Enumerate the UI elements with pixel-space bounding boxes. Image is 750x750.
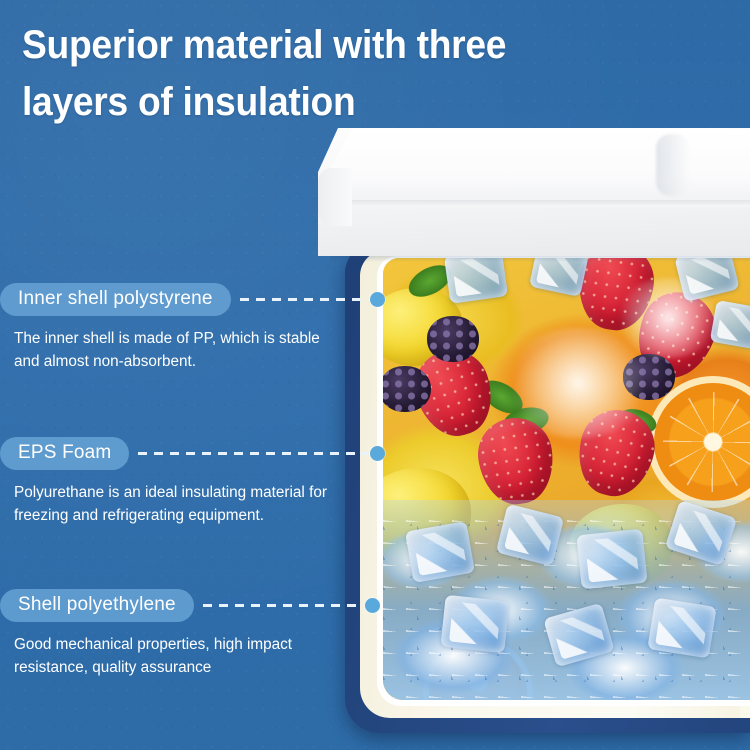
ice-cube [576,529,647,590]
leader-line-dashed [203,604,363,607]
callout-label-inner-shell: Inner shell polystyrene [0,283,231,316]
ice-cube [647,597,716,658]
cooler-lid-notch [318,168,352,226]
leader-line-dashed [138,452,368,455]
callout-label-shell-polyethylene: Shell polyethylene [0,589,194,622]
cooler-interior-photo [383,258,750,700]
callout-pill-row: Shell polyethylene [0,589,380,622]
callout-description-eps-foam: Polyurethane is an ideal insulating mate… [0,481,330,528]
ice-cube [405,521,475,583]
leader-endpoint-dot [370,446,385,461]
ice-cube [440,595,509,653]
fruit-ice-photo [383,258,750,700]
callout-pill-row: Inner shell polystyrene [0,283,385,316]
frost-mist [613,278,723,358]
callout-pill-row: EPS Foam [0,437,385,470]
leader-endpoint-dot [365,598,380,613]
leader-endpoint-dot [370,292,385,307]
callout-description-shell-polyethylene: Good mechanical properties, high impact … [0,633,330,680]
blackberry [427,316,479,362]
callout-label-eps-foam: EPS Foam [0,437,129,470]
cooler-lid-seam [322,200,750,207]
page-title: Superior material with three layers of i… [22,17,617,131]
cooler-lid-handle-bump [656,134,690,196]
leader-line-dashed [240,298,368,301]
callout-shell-polyethylene: Shell polyethylene Good mechanical prope… [0,589,360,679]
callout-eps-foam: EPS Foam Polyurethane is an ideal insula… [0,437,360,527]
ice-cube [444,258,508,304]
blackberry [383,366,431,412]
callout-description-inner-shell: The inner shell is made of PP, which is … [0,327,330,374]
callout-inner-shell: Inner shell polystyrene The inner shell … [0,283,360,373]
